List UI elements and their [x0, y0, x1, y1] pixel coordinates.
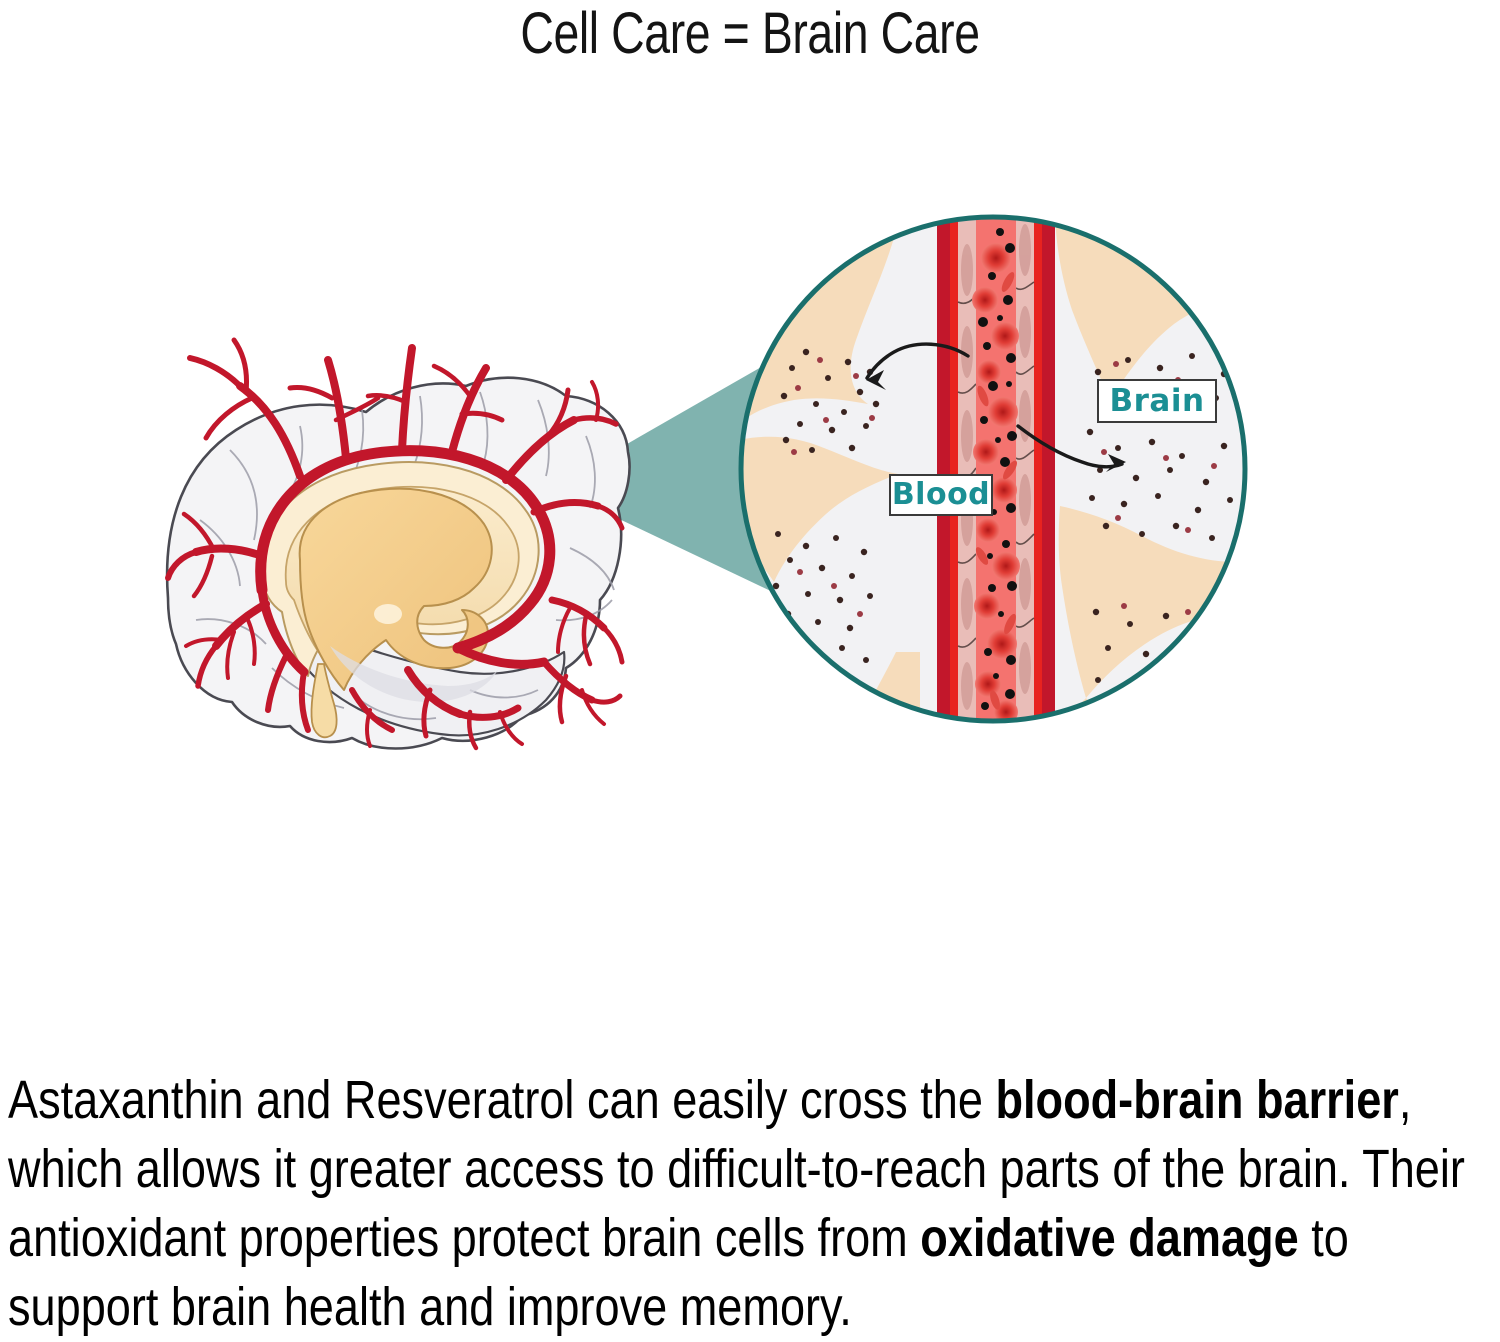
caption-emphasis: oxidative damage [920, 1208, 1298, 1268]
figure-blood-brain-barrier: Blood Brain [0, 0, 1500, 1000]
caption-emphasis: blood-brain barrier [995, 1070, 1398, 1130]
label-brain: Brain [1097, 379, 1217, 423]
magnified-blood-brain-barrier-circle [739, 215, 1249, 725]
caption-run: Astaxanthin and Resveratrol can easily c… [8, 1070, 995, 1130]
infographic-page: Cell Care = Brain Care [0, 0, 1500, 1287]
caption-text: Astaxanthin and Resveratrol can easily c… [8, 1066, 1486, 1342]
brain-sagittal-illustration [167, 340, 629, 749]
label-blood: Blood [889, 474, 993, 516]
